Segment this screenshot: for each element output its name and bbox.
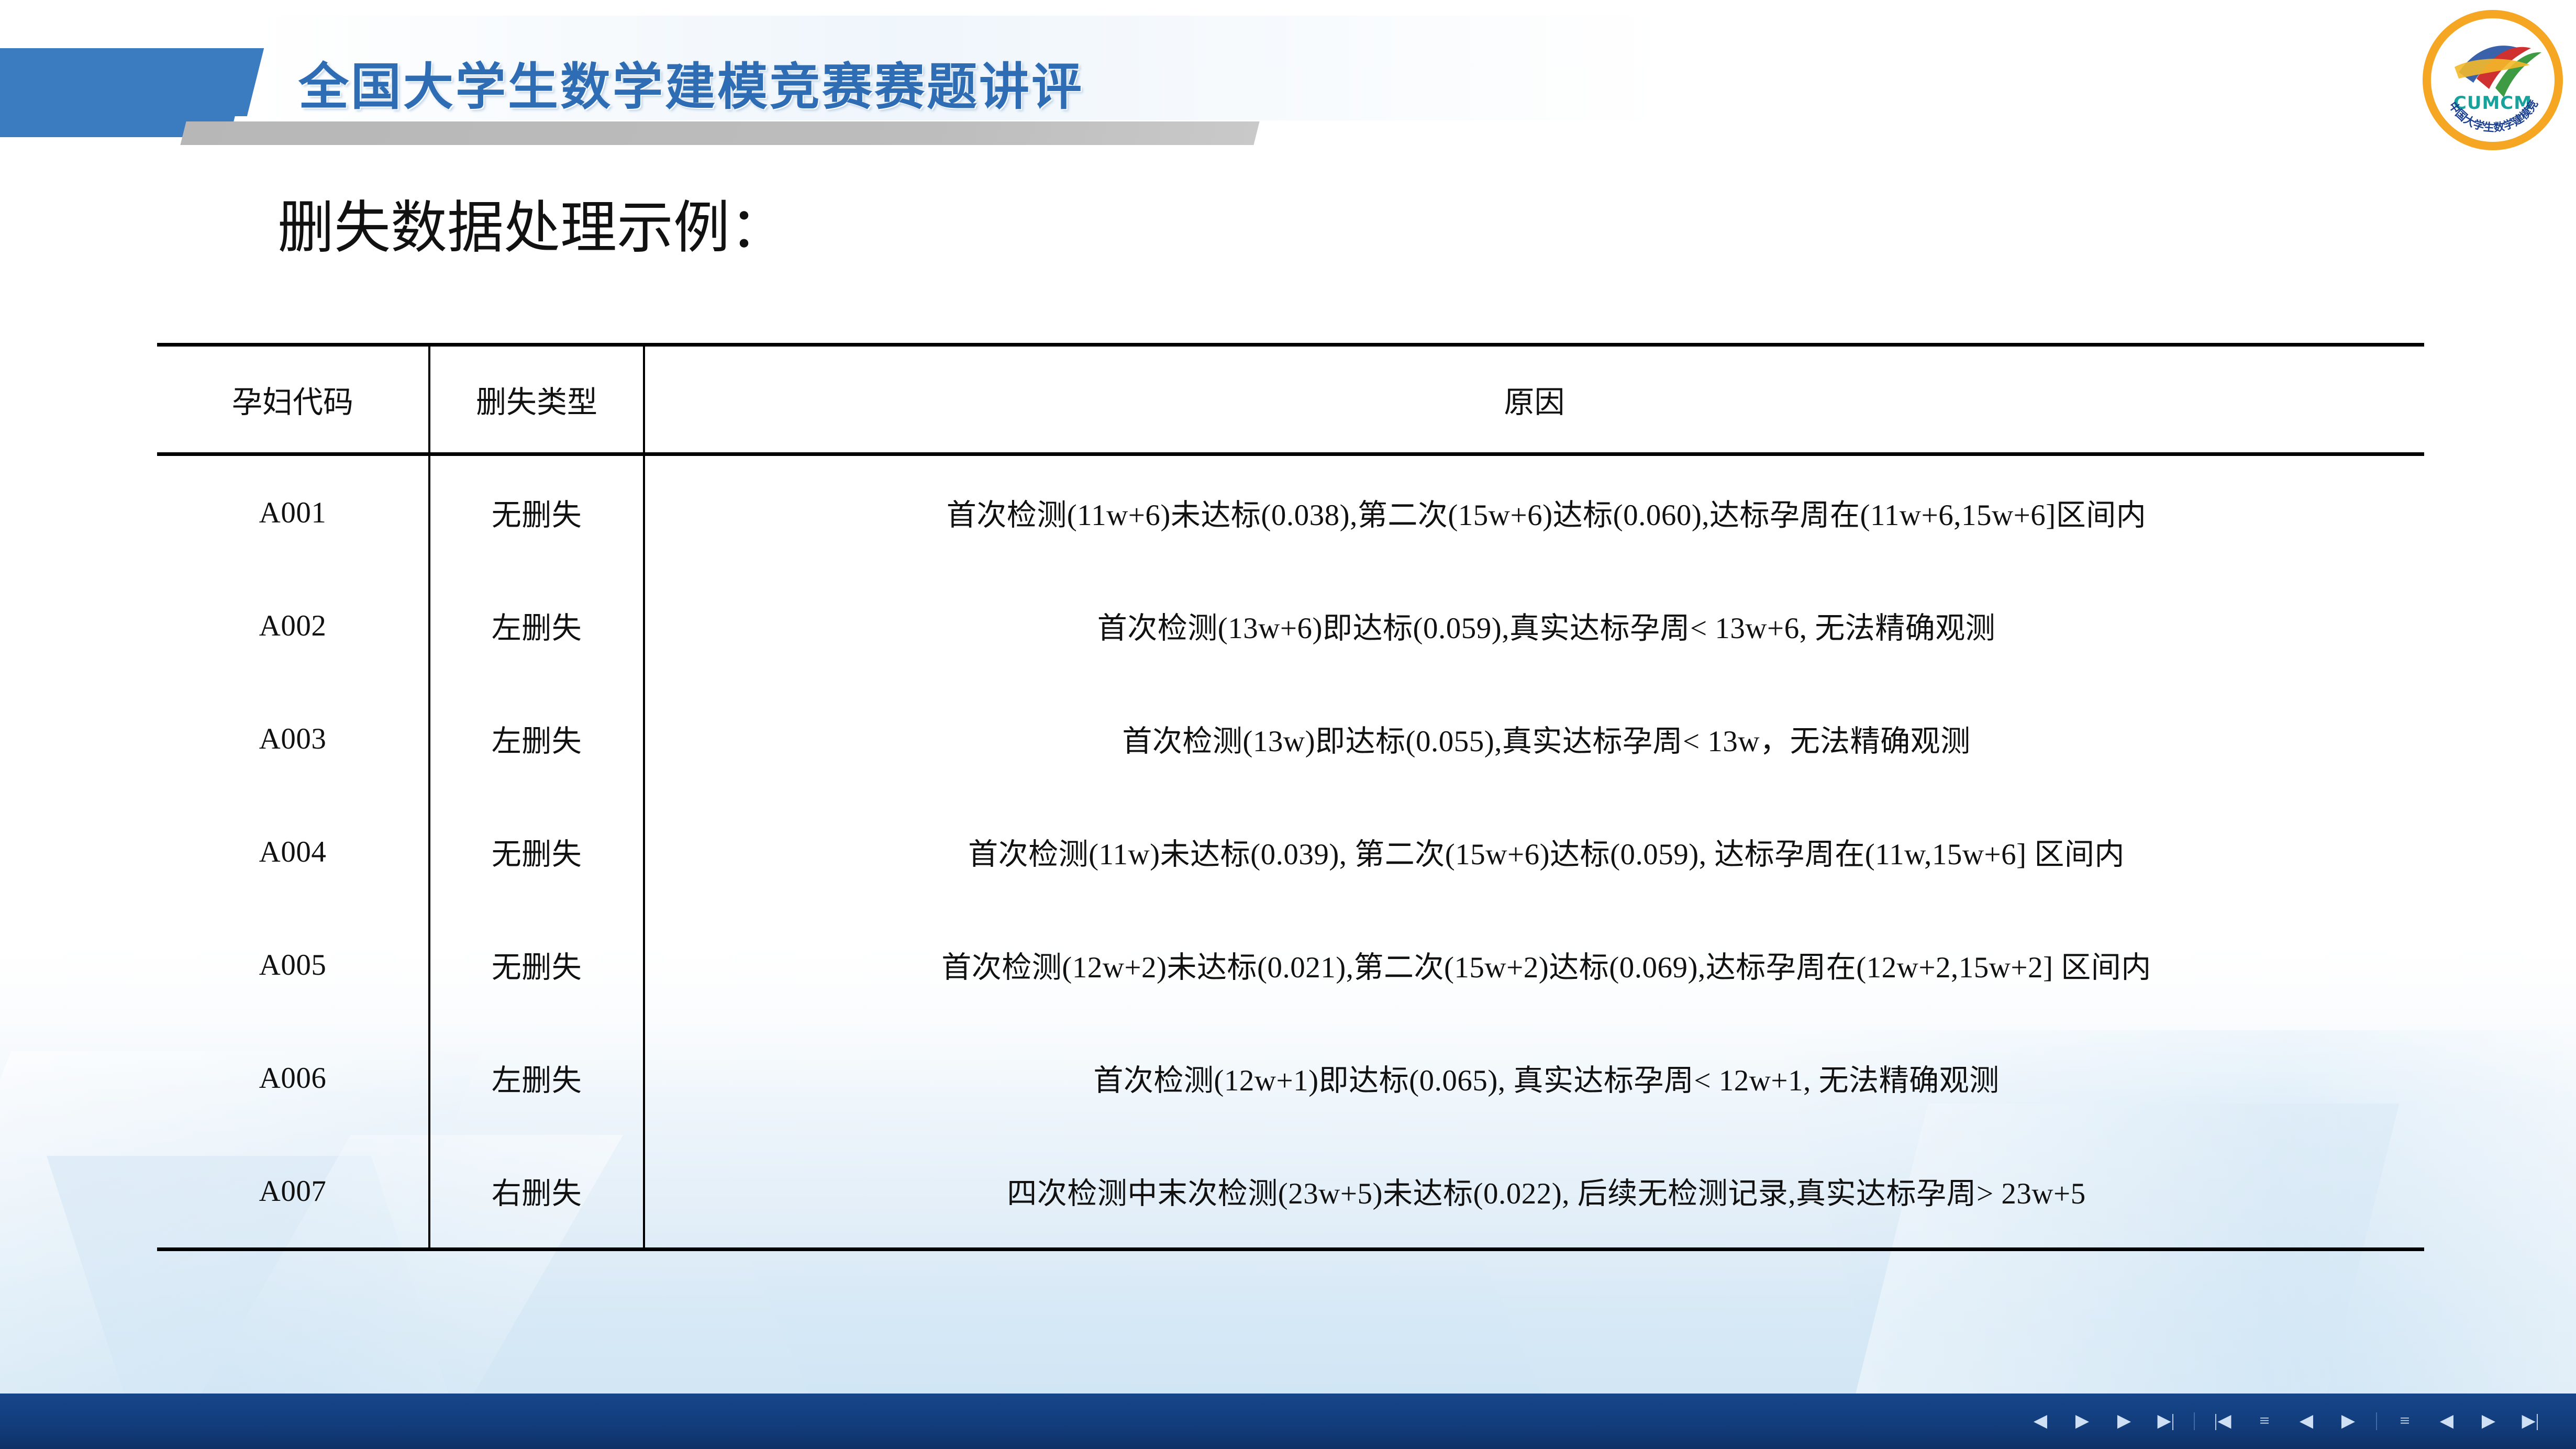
table-row: A003 左删失 首次检测(13w)即达标(0.055),真实达标孕周< 13w… [157,682,2424,795]
cell-code: A001 [157,454,429,570]
table-row: A007 右删失 四次检测中末次检测(23w+5)未达标(0.022), 后续无… [157,1134,2424,1250]
navigation-buttons: ◀ ▶ ▶ ▶| |◀ ≡ ◀ ▶ ≡ ◀ ▶ ▶| [2026,1394,2545,1449]
navbar-divider [2194,1412,2195,1430]
cell-reason: 四次检测中末次检测(23w+5)未达标(0.022), 后续无检测记录,真实达标… [644,1134,2424,1250]
cell-code: A007 [157,1134,429,1250]
outline-icon[interactable]: ≡ [2391,1407,2419,1435]
table-row: A006 左删失 首次检测(12w+1)即达标(0.065), 真实达标孕周< … [157,1021,2424,1134]
cumcm-logo: CUMCM 中国大学生数学建模竞赛 [2422,9,2563,151]
table-row: A002 左删失 首次检测(13w+6)即达标(0.059),真实达标孕周< 1… [157,569,2424,682]
table-row: A001 无删失 首次检测(11w+6)未达标(0.038),第二次(15w+6… [157,454,2424,570]
page-title: 删失数据处理示例： [277,182,786,264]
cell-type: 左删失 [429,682,644,795]
menu-list-icon[interactable]: ≡ [2250,1407,2279,1435]
cell-reason: 首次检测(11w)未达标(0.039), 第二次(15w+6)达标(0.059)… [644,795,2424,908]
play-slide-icon[interactable]: ▶ [2068,1407,2096,1435]
next-slide-icon[interactable]: ▶ [2110,1407,2138,1435]
bottom-navigation-bar: ◀ ▶ ▶ ▶| |◀ ≡ ◀ ▶ ≡ ◀ ▶ ▶| [0,1394,2576,1449]
column-header-reason: 原因 [644,345,2424,454]
cell-type: 左删失 [429,1021,644,1134]
slide-canvas: 全国大学生数学建模竞赛赛题讲评 CUMCM 中国大学生数学建模竞赛 删失数据处理… [0,0,2576,1449]
header-gray-bar [180,121,1259,145]
column-header-code: 孕妇代码 [157,345,429,454]
cell-code: A002 [157,569,429,682]
cell-code: A006 [157,1021,429,1134]
cell-reason: 首次检测(13w+6)即达标(0.059),真实达标孕周< 13w+6, 无法精… [644,569,2424,682]
cell-reason: 首次检测(12w+2)未达标(0.021),第二次(15w+2)达标(0.069… [644,908,2424,1021]
rewind-start-icon[interactable]: |◀ [2208,1407,2237,1435]
cell-reason: 首次检测(13w)即达标(0.055),真实达标孕周< 13w，无法精确观测 [644,682,2424,795]
cell-type: 左删失 [429,569,644,682]
cell-type: 无删失 [429,908,644,1021]
skip-forward-icon[interactable]: ▶| [2152,1407,2180,1435]
table-row: A005 无删失 首次检测(12w+2)未达标(0.021),第二次(15w+2… [157,908,2424,1021]
cell-code: A003 [157,682,429,795]
table-header-row: 孕妇代码 删失类型 原因 [157,345,2424,454]
cell-reason: 首次检测(12w+1)即达标(0.065), 真实达标孕周< 12w+1, 无法… [644,1021,2424,1134]
end-slide-icon[interactable]: ▶| [2516,1407,2545,1435]
cell-type: 无删失 [429,795,644,908]
censoring-examples-table: 孕妇代码 删失类型 原因 A001 无删失 首次检测(11w+6)未达标(0.0… [157,343,2424,1251]
cell-reason: 首次检测(11w+6)未达标(0.038),第二次(15w+6)达标(0.060… [644,454,2424,570]
step-forward-icon[interactable]: ▶ [2334,1407,2362,1435]
cell-type: 右删失 [429,1134,644,1250]
navbar-divider [2376,1412,2377,1430]
header-banner-title: 全国大学生数学建模竞赛赛题讲评 [298,46,1084,119]
cell-code: A004 [157,795,429,908]
cell-code: A005 [157,908,429,1021]
previous-slide-icon[interactable]: ◀ [2026,1407,2055,1435]
step-back-icon[interactable]: ◀ [2292,1407,2320,1435]
cell-type: 无删失 [429,454,644,570]
slide-header: 全国大学生数学建模竞赛赛题讲评 [0,0,2576,157]
column-header-type: 删失类型 [429,345,644,454]
expand-icon[interactable]: ▶ [2474,1407,2503,1435]
table-row: A004 无删失 首次检测(11w)未达标(0.039), 第二次(15w+6)… [157,795,2424,908]
collapse-icon[interactable]: ◀ [2433,1407,2461,1435]
